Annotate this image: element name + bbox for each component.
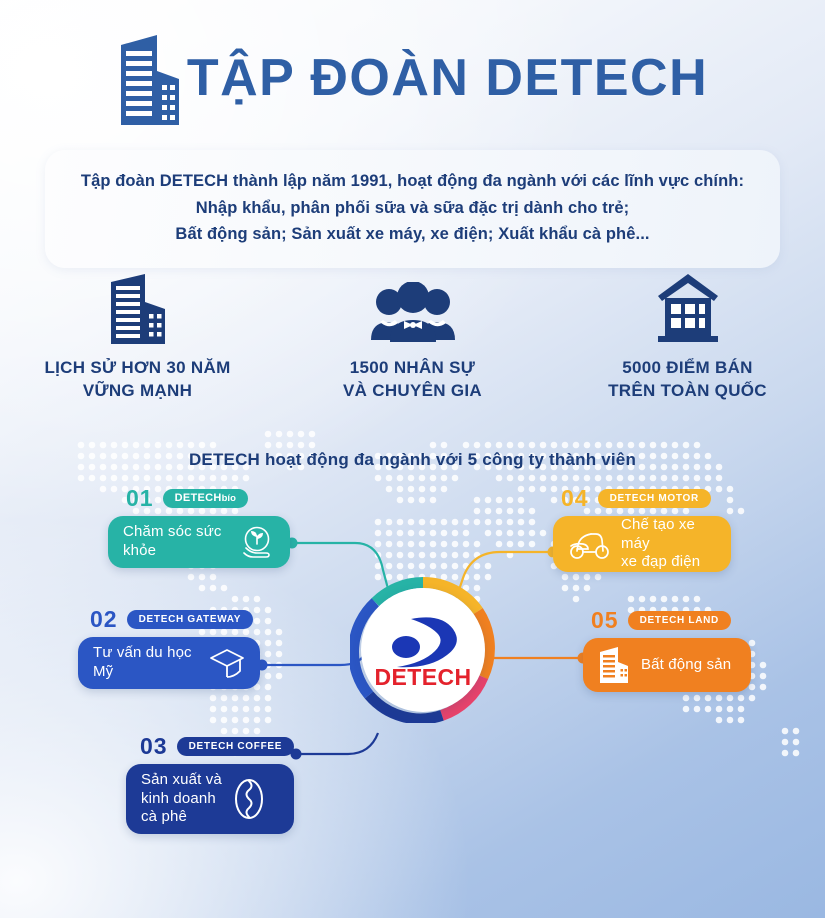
company-badge-04: DETECH MOTOR [598, 489, 711, 508]
company-node-01[interactable]: 01 DETECHbío Chăm sóc sức khỏe [108, 487, 290, 568]
logo-wordmark: DETECH [375, 666, 472, 689]
intro-line-3: Bất động sản; Sản xuất xe máy, xe điện; … [65, 221, 760, 248]
building-icon [107, 272, 169, 344]
stat-people-line-2: VÀ CHUYÊN GIA [343, 380, 482, 403]
page-title: TẬP ĐOÀN DETECH [187, 52, 708, 104]
company-badge-01: DETECHbío [163, 489, 248, 508]
stat-people-label: 1500 NHÂN SỰ VÀ CHUYÊN GIA [343, 357, 482, 402]
graduation-cap-icon [209, 646, 245, 680]
company-number-05: 05 [591, 609, 619, 632]
company-badge-05: DETECH LAND [628, 611, 731, 630]
coffee-bean-icon [233, 777, 265, 821]
stat-history: LỊCH SỬ HƠN 30 NĂM VỮNG MẠNH [0, 272, 275, 402]
hand-plant-care-icon [239, 524, 275, 560]
detech-swoosh-logo [381, 613, 465, 669]
company-card-03[interactable]: Sản xuất và kinh doanh cà phê [126, 764, 294, 834]
company-node-05[interactable]: 05 DETECH LAND Bất động sản [583, 609, 751, 692]
connector-line-02 [262, 654, 364, 665]
storefront-icon [656, 272, 720, 344]
company-title-02: Tư vấn du học Mỹ [93, 644, 198, 682]
stat-history-line-2: VỮNG MẠNH [44, 380, 230, 403]
stat-stores-line-2: TRÊN TOÀN QUỐC [608, 380, 767, 403]
company-node-04[interactable]: 04 DETECH MOTOR Chế tạo xe máy xe đạp đi… [553, 487, 731, 572]
detech-logo: DETECH [350, 577, 496, 723]
stat-people: 1500 NHÂN SỰ VÀ CHUYÊN GIA [275, 272, 550, 402]
company-title-04: Chế tạo xe máy xe đạp điện [621, 516, 716, 573]
connector-line-03 [296, 733, 378, 754]
page-header: TẬP ĐOÀN DETECH [0, 18, 825, 138]
real-estate-building-icon [598, 646, 630, 684]
company-card-01[interactable]: Chăm sóc sức khỏe [108, 516, 290, 568]
scooter-icon [568, 528, 610, 560]
company-number-01: 01 [126, 487, 154, 510]
people-icon [370, 272, 456, 344]
intro-line-2: Nhập khẩu, phân phối sữa và sữa đặc trị … [65, 195, 760, 222]
stat-people-line-1: 1500 NHÂN SỰ [343, 357, 482, 380]
company-card-04[interactable]: Chế tạo xe máy xe đạp điện [553, 516, 731, 572]
logo-inner-disc: DETECH [361, 588, 485, 712]
company-node-02[interactable]: 02 DETECH GATEWAY Tư vấn du học Mỹ [78, 608, 260, 689]
company-node-03[interactable]: 03 DETECH COFFEE Sản xuất và kinh doanh … [126, 735, 294, 834]
company-badge-03: DETECH COFFEE [177, 737, 295, 756]
company-card-02[interactable]: Tư vấn du học Mỹ [78, 637, 260, 689]
intro-line-1: Tập đoàn DETECH thành lập năm 1991, hoạt… [65, 168, 760, 195]
company-card-05[interactable]: Bất động sản [583, 638, 751, 692]
stat-stores: 5000 ĐIỂM BÁN TRÊN TOÀN QUỐC [550, 272, 825, 402]
company-title-03: Sản xuất và kinh doanh cà phê [141, 771, 222, 828]
company-title-05: Bất động sản [641, 656, 731, 675]
company-title-01: Chăm sóc sức khỏe [123, 523, 228, 561]
company-number-03: 03 [140, 735, 168, 758]
company-number-02: 02 [90, 608, 118, 631]
intro-description-card: Tập đoàn DETECH thành lập năm 1991, hoạt… [45, 150, 780, 268]
stat-history-line-1: LỊCH SỬ HƠN 30 NĂM [44, 357, 230, 380]
company-number-04: 04 [561, 487, 589, 510]
stat-stores-line-1: 5000 ĐIỂM BÁN [608, 357, 767, 380]
stat-stores-label: 5000 ĐIỂM BÁN TRÊN TOÀN QUỐC [608, 357, 767, 402]
company-badge-02: DETECH GATEWAY [127, 610, 254, 629]
stat-history-label: LỊCH SỬ HƠN 30 NĂM VỮNG MẠNH [44, 357, 230, 402]
key-stats-row: LỊCH SỬ HƠN 30 NĂM VỮNG MẠNH [0, 272, 825, 402]
office-building-icon [117, 33, 183, 125]
